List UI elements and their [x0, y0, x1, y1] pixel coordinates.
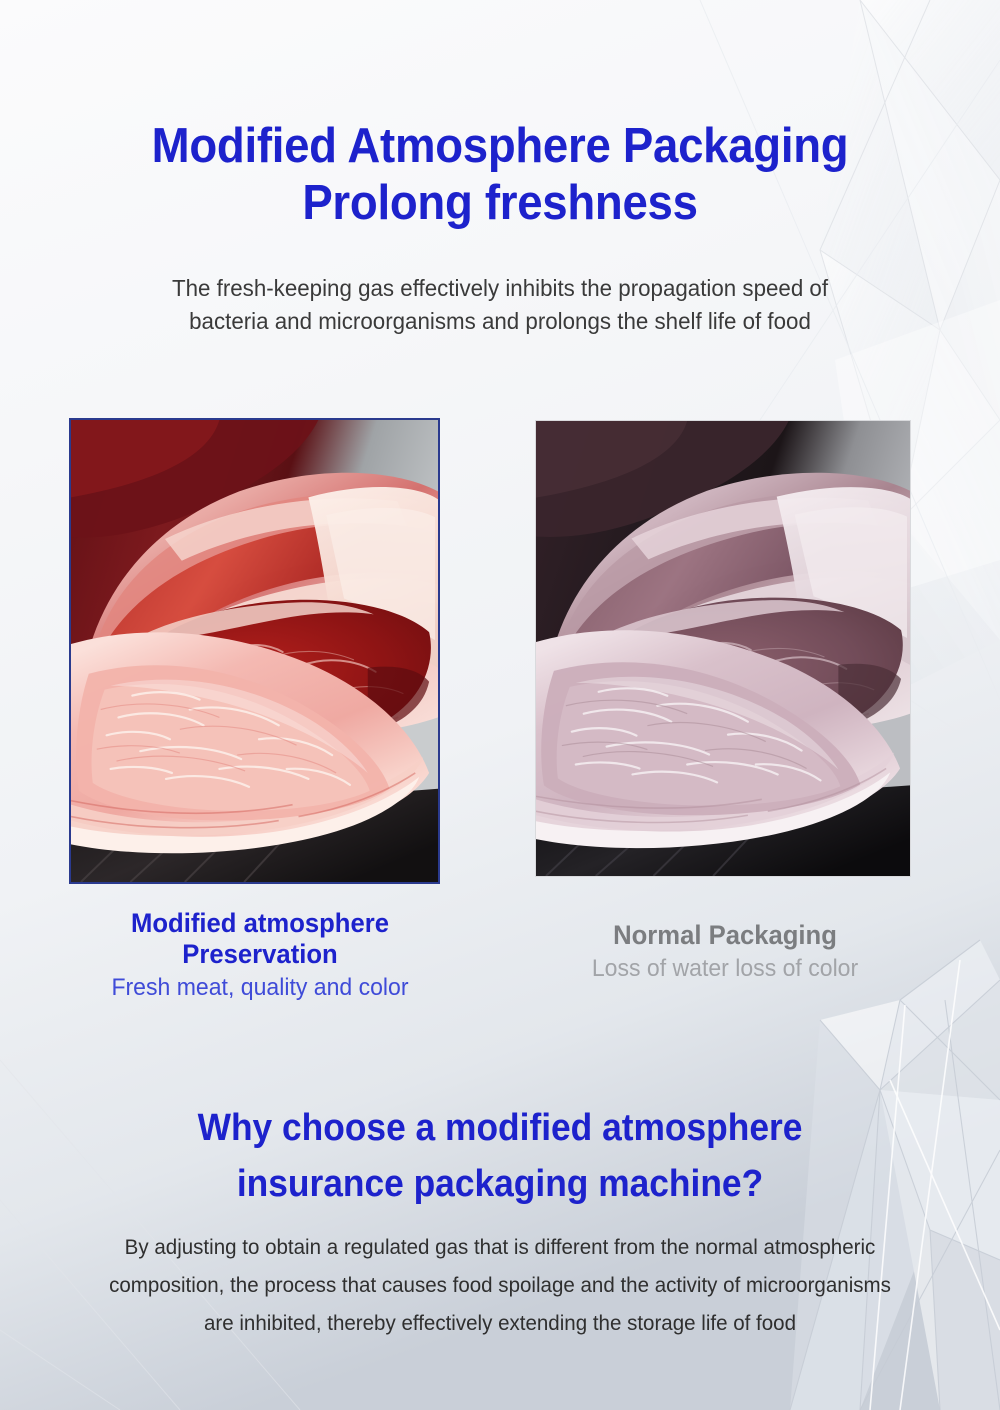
- dull-meat-photo: [536, 421, 910, 876]
- fresh-meat-photo: [71, 420, 438, 882]
- figure-normal-packaging: [535, 420, 911, 877]
- caption-normal-packaging: Normal Packaging Loss of water loss of c…: [520, 920, 930, 984]
- caption-right-title: Normal Packaging: [530, 920, 920, 951]
- why-section-heading: Why choose a modified atmosphere insuran…: [35, 1100, 965, 1212]
- page-title: Modified Atmosphere Packaging Prolong fr…: [35, 118, 965, 232]
- caption-left-title: Modified atmosphere Preservation: [51, 908, 469, 970]
- marketing-page: Modified Atmosphere Packaging Prolong fr…: [0, 0, 1000, 1410]
- caption-right-subtitle: Loss of water loss of color: [528, 954, 922, 984]
- why-section-body: By adjusting to obtain a regulated gas t…: [65, 1228, 934, 1342]
- page-subtitle: The fresh-keeping gas effectively inhibi…: [82, 272, 918, 338]
- caption-left-subtitle: Fresh meat, quality and color: [49, 973, 471, 1003]
- figure-modified-atmosphere: [69, 418, 440, 884]
- caption-modified-atmosphere: Modified atmosphere Preservation Fresh m…: [40, 908, 480, 1003]
